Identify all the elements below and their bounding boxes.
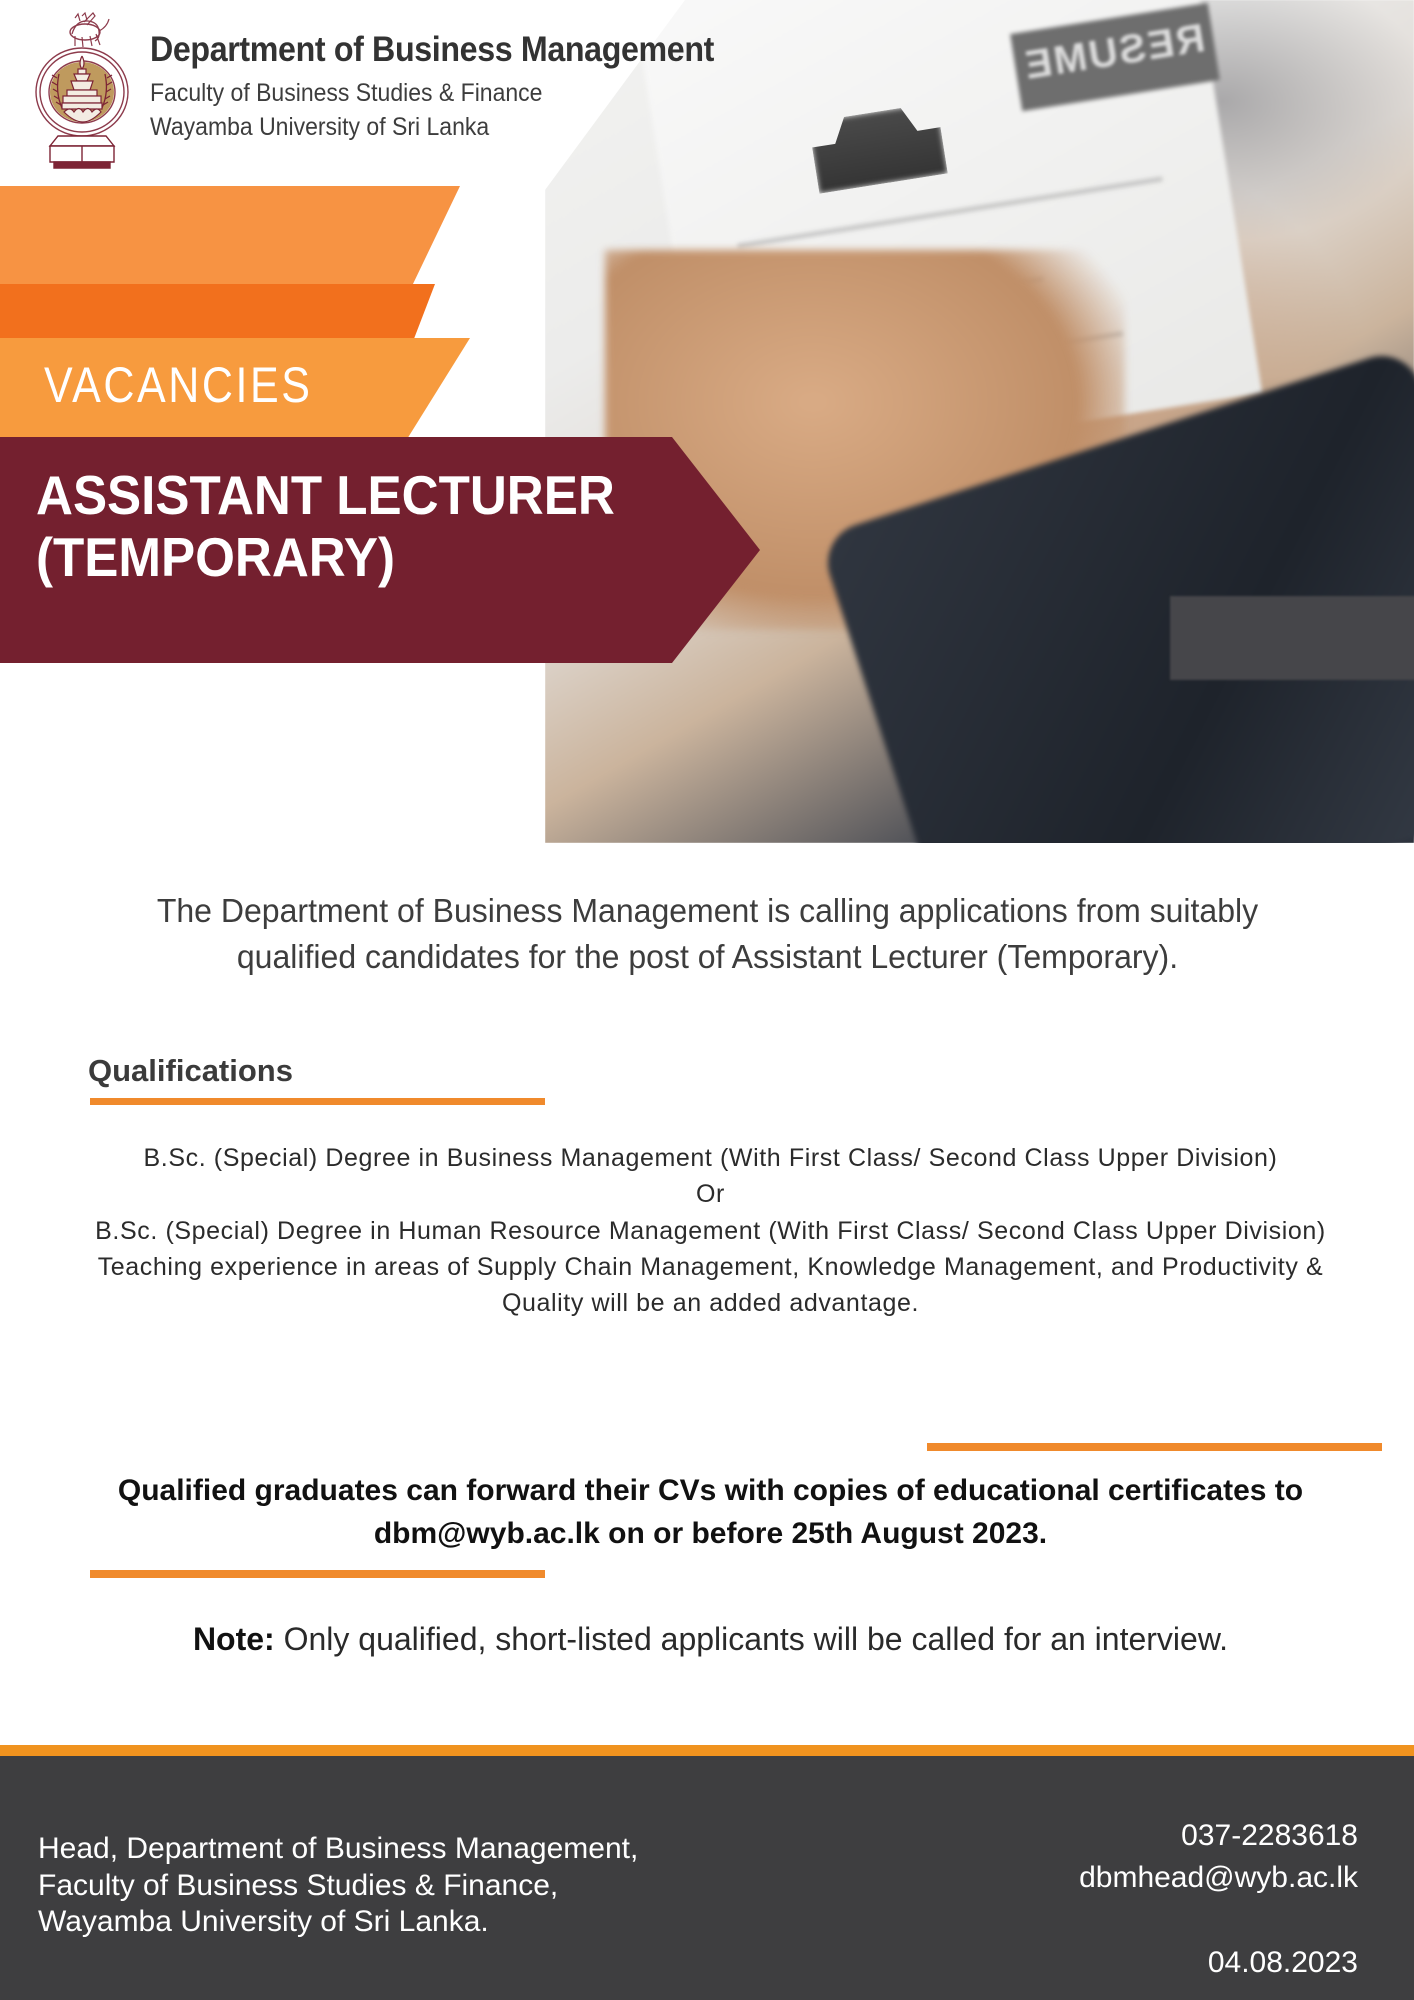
- footer-email[interactable]: dbmhead@wyb.ac.lk: [1079, 1861, 1358, 1895]
- poster-header: Department of Business Management Facult…: [0, 0, 820, 190]
- footer-date: 04.08.2023: [1208, 1946, 1358, 1980]
- qualification-or-separator: Or: [78, 1176, 1343, 1212]
- post-title-text: ASSISTANT LECTURER (TEMPORARY): [36, 465, 615, 588]
- university-crest-icon: [28, 12, 136, 172]
- intro-paragraph: The Department of Business Management is…: [99, 888, 1316, 979]
- qualification-item-2: B.Sc. (Special) Degree in Human Resource…: [78, 1213, 1343, 1249]
- accent-bar-left: [90, 1570, 545, 1578]
- qualifications-underline: [90, 1098, 545, 1105]
- footer-phone[interactable]: 037-2283618: [1181, 1819, 1358, 1853]
- qualification-item-3: Teaching experience in areas of Supply C…: [78, 1249, 1343, 1322]
- post-title-line-1: ASSISTANT LECTURER: [36, 465, 615, 527]
- note-label: Note:: [193, 1621, 275, 1657]
- post-title-line-2: (TEMPORARY): [36, 527, 615, 589]
- university-name: Wayamba University of Sri Lanka: [150, 111, 714, 143]
- interview-note: Note: Only qualified, short-listed appli…: [78, 1618, 1343, 1661]
- accent-bar-right: [927, 1443, 1382, 1451]
- qualification-item-1: B.Sc. (Special) Degree in Business Manag…: [78, 1140, 1343, 1176]
- cv-submission-instruction: Qualified graduates can forward their CV…: [78, 1470, 1343, 1555]
- footer-address-line-2: Faculty of Business Studies & Finance,: [38, 1868, 638, 1905]
- footer-address-line-1: Head, Department of Business Management,: [38, 1831, 638, 1868]
- department-title: Department of Business Management: [150, 32, 714, 69]
- footer-orange-rule: [0, 1745, 1414, 1756]
- faculty-name: Faculty of Business Studies & Finance: [150, 77, 714, 109]
- gray-strip-overlay: [1170, 596, 1414, 680]
- header-text-block: Department of Business Management Facult…: [150, 32, 763, 143]
- qualifications-heading: Qualifications: [88, 1053, 293, 1089]
- footer-address-line-3: Wayamba University of Sri Lanka.: [38, 1904, 638, 1941]
- poster-footer: Head, Department of Business Management,…: [0, 1756, 1414, 2000]
- vacancies-label: VACANCIES: [44, 356, 313, 414]
- footer-address: Head, Department of Business Management,…: [38, 1831, 638, 1941]
- note-body: Only qualified, short-listed applicants …: [275, 1621, 1228, 1657]
- qualifications-list: B.Sc. (Special) Degree in Business Manag…: [78, 1140, 1343, 1321]
- hero-section: RESUME: [0, 0, 1414, 843]
